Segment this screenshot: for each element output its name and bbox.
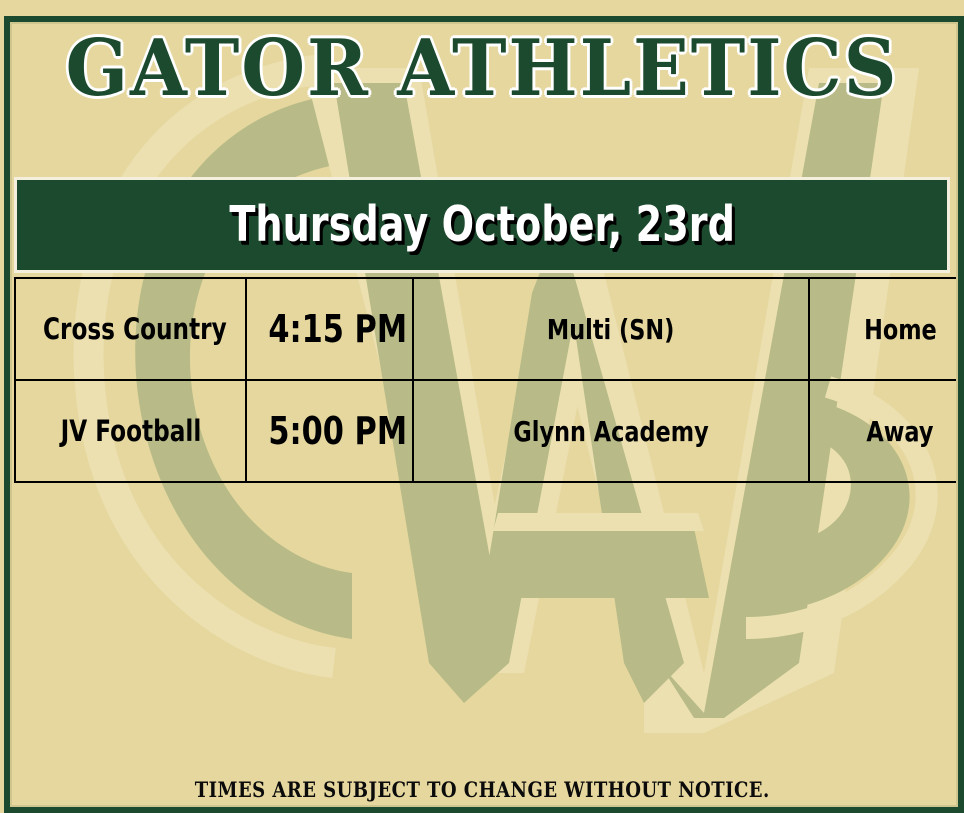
opponent-label: Multi (SN) [547, 313, 674, 346]
disclaimer-text: TIMES ARE SUBJECT TO CHANGE WITHOUT NOTI… [195, 778, 770, 802]
athletics-schedule-poster: GATOR ATHLETICS Thursday October, 23rd C… [0, 0, 964, 813]
cell-opponent: Glynn Academy [413, 380, 809, 482]
cell-sport: Cross Country [15, 278, 246, 380]
poster-content: GATOR ATHLETICS Thursday October, 23rd C… [0, 0, 964, 813]
cell-location: Home [809, 278, 964, 380]
time-label: 5:00 PM [268, 409, 407, 453]
date-banner-label: Thursday October, 23rd [229, 199, 735, 251]
table-row: Cross Country 4:15 PM Multi (SN) Home [15, 278, 964, 380]
location-label: Away [866, 415, 933, 448]
time-label: 4:15 PM [268, 307, 407, 351]
sport-label: Cross Country [43, 312, 227, 346]
disclaimer-footer: TIMES ARE SUBJECT TO CHANGE WITHOUT NOTI… [0, 778, 964, 802]
location-label: Home [864, 313, 937, 346]
date-banner: Thursday October, 23rd [14, 177, 950, 273]
page-title: GATOR ATHLETICS [29, 26, 935, 112]
cell-time: 4:15 PM [246, 278, 413, 380]
sport-label: JV Football [60, 414, 201, 448]
table-row: JV Football 5:00 PM Glynn Academy Away [15, 380, 964, 482]
cell-location: Away [809, 380, 964, 482]
cell-sport: JV Football [15, 380, 246, 482]
cell-opponent: Multi (SN) [413, 278, 809, 380]
opponent-label: Glynn Academy [513, 415, 708, 448]
cell-time: 5:00 PM [246, 380, 413, 482]
schedule-table: Cross Country 4:15 PM Multi (SN) Home JV… [14, 277, 964, 483]
